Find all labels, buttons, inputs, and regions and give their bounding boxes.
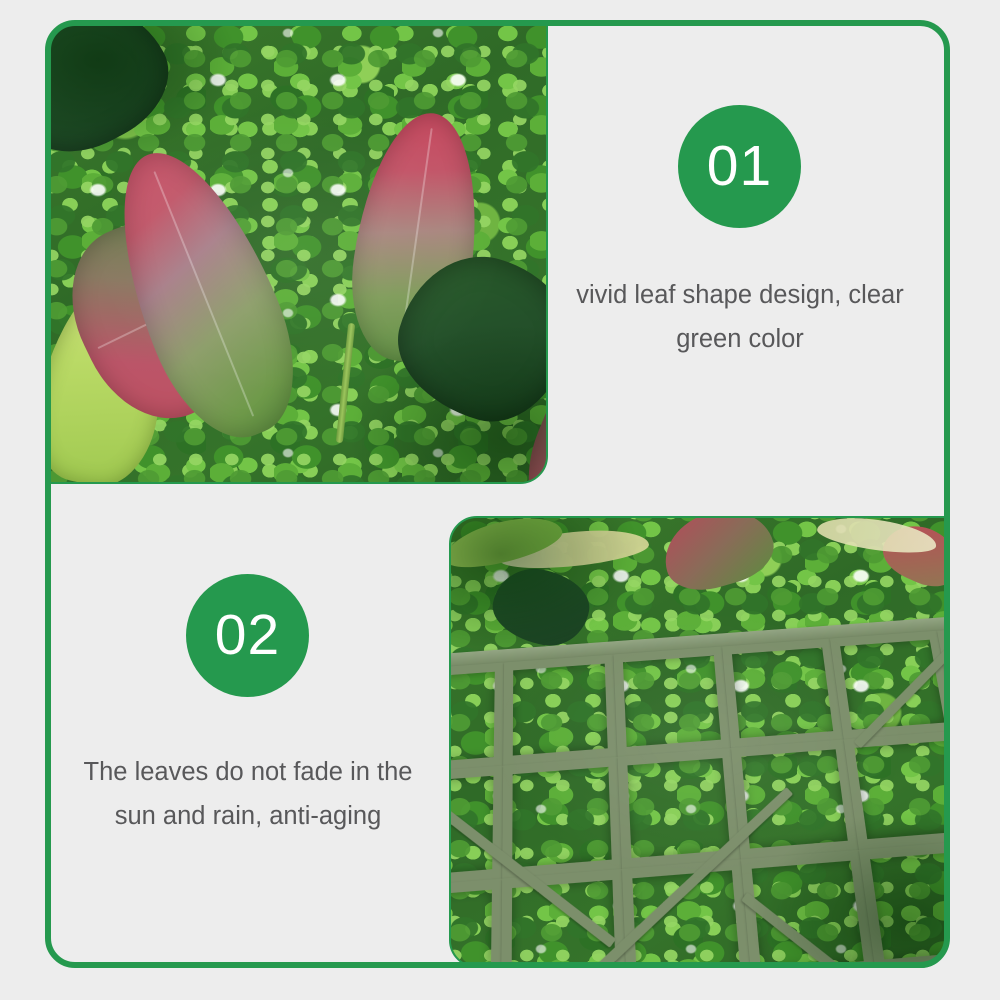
feature-badge-02: 02 [186, 574, 309, 697]
feature-caption-01: vivid leaf shape design, clear green col… [560, 273, 920, 361]
feature-number-01: 01 [707, 138, 772, 195]
feature-number-02: 02 [215, 607, 280, 664]
feature-badge-01: 01 [678, 105, 801, 228]
feature-caption-02: The leaves do not fade in the sun and ra… [62, 750, 434, 838]
infographic-canvas: 01 vivid leaf shape design, clear green … [0, 0, 1000, 1000]
